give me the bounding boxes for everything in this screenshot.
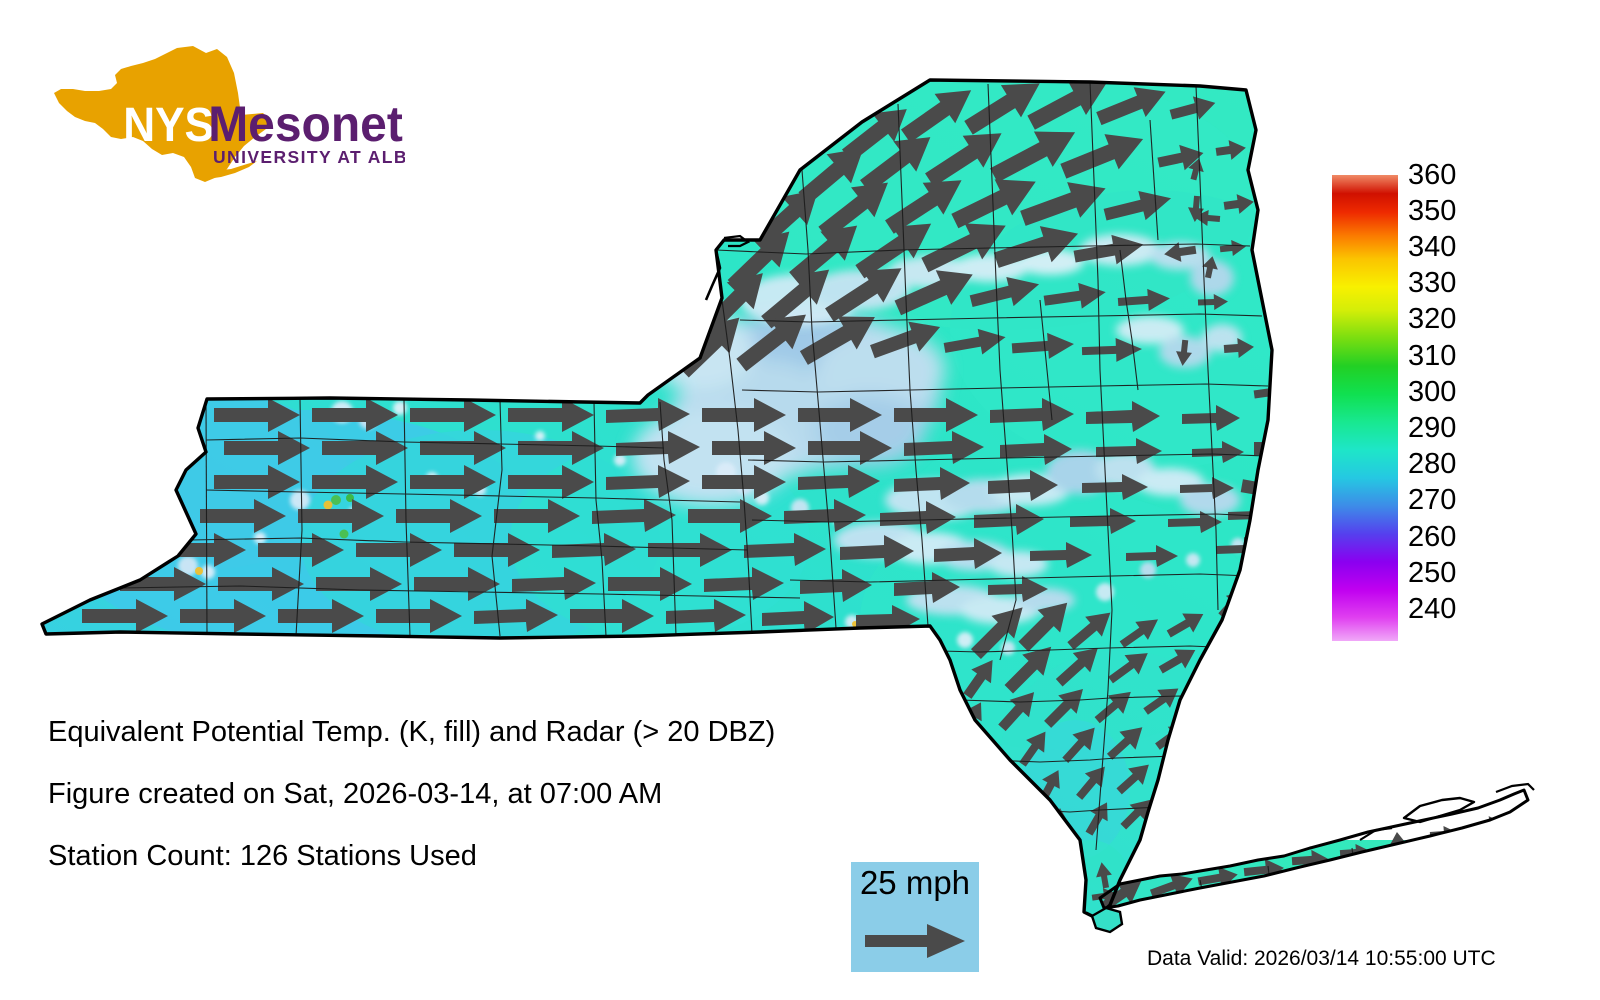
data-valid-timestamp: Data Valid: 2026/03/14 10:55:00 UTC	[1147, 948, 1496, 969]
colorbar-tick: 290	[1408, 414, 1456, 443]
state-fill-long-island	[1080, 840, 1560, 930]
caption-title: Equivalent Potential Temp. (K, fill) and…	[48, 718, 948, 747]
colorbar-tick-labels: 360 350 340 330 320 310 300 290 280 270 …	[1408, 175, 1518, 641]
caption-block: Equivalent Potential Temp. (K, fill) and…	[48, 718, 948, 904]
wind-key-arrow-icon	[865, 924, 965, 958]
colorbar-tick: 360	[1408, 161, 1456, 190]
colorbar-tick: 330	[1408, 269, 1456, 298]
colorbar-tick: 300	[1408, 378, 1456, 407]
colorbar-tick: 240	[1408, 595, 1456, 624]
caption-station-count: Station Count: 126 Stations Used	[48, 842, 948, 871]
colorbar-tick: 340	[1408, 233, 1456, 262]
wind-speed-key: 25 mph	[851, 862, 979, 972]
wind-key-label: 25 mph	[851, 865, 979, 901]
colorbar-tick: 310	[1408, 342, 1456, 371]
colorbar-tick: 260	[1408, 523, 1456, 552]
colorbar	[1332, 175, 1398, 641]
colorbar-tick: 270	[1408, 486, 1456, 515]
colorbar-tick: 280	[1408, 450, 1456, 479]
caption-created: Figure created on Sat, 2026-03-14, at 07…	[48, 780, 948, 809]
colorbar-tick: 320	[1408, 305, 1456, 334]
colorbar-tick: 250	[1408, 559, 1456, 588]
figure-canvas: NYS Mesonet UNIVERSITY AT ALBANY	[0, 0, 1600, 1000]
colorbar-tick: 350	[1408, 197, 1456, 226]
